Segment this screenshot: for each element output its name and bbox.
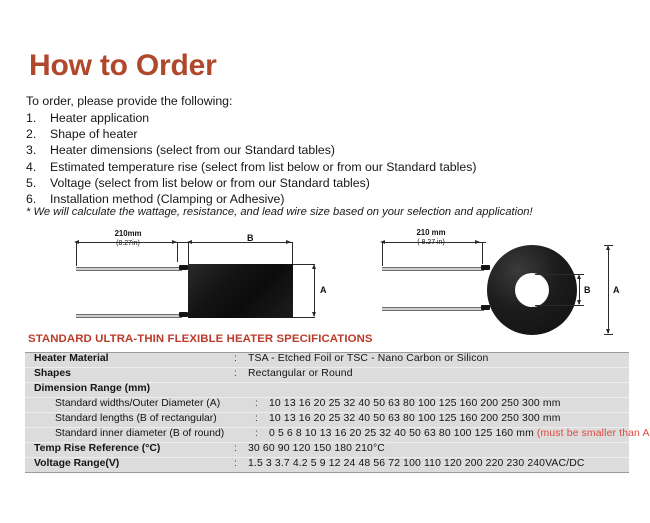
round-heater-inner-hole bbox=[515, 273, 549, 307]
table-row: Shapes : Rectangular or Round bbox=[25, 368, 629, 383]
rect-a-extension-top bbox=[293, 264, 315, 265]
round-lead-arrow-right bbox=[475, 240, 480, 244]
spec-value-warning: (must be smaller than A) bbox=[534, 428, 650, 439]
table-row: Temp Rise Reference (°C) : 30 60 90 120 … bbox=[25, 443, 629, 458]
rect-lead-length-mm: 210mm bbox=[115, 229, 142, 238]
round-lead-crimp-bottom bbox=[481, 305, 490, 310]
rect-b-arrow-right bbox=[286, 240, 291, 244]
table-row: Standard inner diameter (B of round) : 0… bbox=[25, 428, 629, 443]
round-a-tick-top bbox=[604, 245, 613, 246]
list-item-label: Estimated temperature rise (select from … bbox=[50, 159, 626, 175]
round-b-tick-top bbox=[575, 274, 584, 275]
list-item: 2. Shape of heater bbox=[26, 126, 626, 142]
spec-value: Rectangular or Round bbox=[248, 368, 629, 379]
spec-colon: : bbox=[234, 353, 248, 364]
spec-label: Temp Rise Reference (°C) bbox=[25, 443, 234, 454]
round-lead-dim-line bbox=[382, 242, 486, 243]
round-b-extension-top bbox=[535, 274, 580, 275]
list-item: 6. Installation method (Clamping or Adhe… bbox=[26, 191, 626, 207]
rect-lead-length-label: 210mm (8.27in) bbox=[88, 230, 168, 248]
list-item-number: 1. bbox=[26, 110, 50, 126]
spec-value: TSA - Etched Foil or TSC - Nano Carbon o… bbox=[248, 353, 629, 364]
round-lead-wire-top bbox=[382, 267, 484, 271]
rect-lead-wire-top bbox=[76, 267, 182, 271]
spec-value: 1.5 3 3.7 4.2 5 9 12 24 48 56 72 100 110… bbox=[248, 458, 629, 469]
intro-text: To order, please provide the following: bbox=[26, 94, 232, 108]
list-item-number: 2. bbox=[26, 126, 50, 142]
spec-label: Shapes bbox=[25, 368, 234, 379]
spec-table: Heater Material : TSA - Etched Foil or T… bbox=[25, 352, 629, 473]
list-item: 4. Estimated temperature rise (select fr… bbox=[26, 159, 626, 175]
round-lead-wire-bottom bbox=[382, 307, 484, 311]
table-row: Standard widths/Outer Diameter (A) : 10 … bbox=[25, 398, 629, 413]
list-item-label: Heater dimensions (select from our Stand… bbox=[50, 142, 626, 158]
rectangular-heater-diagram: 210mm (8.27in) B bbox=[62, 228, 342, 333]
rect-lead-length-in: (8.27in) bbox=[116, 240, 140, 247]
table-row: Dimension Range (mm) bbox=[25, 383, 629, 398]
rect-heater-body bbox=[188, 264, 293, 318]
calculation-note: * We will calculate the wattage, resista… bbox=[26, 206, 533, 218]
spec-label: Standard widths/Outer Diameter (A) bbox=[25, 398, 255, 409]
rect-lead-crimp-top bbox=[179, 265, 188, 270]
spec-colon: : bbox=[255, 428, 269, 439]
spec-section-heading: STANDARD ULTRA-THIN FLEXIBLE HEATER SPEC… bbox=[28, 333, 373, 345]
spec-value: 10 13 16 20 25 32 40 50 63 80 100 125 16… bbox=[269, 413, 629, 424]
list-item-number: 6. bbox=[26, 191, 50, 207]
list-item-label: Heater application bbox=[50, 110, 626, 126]
rect-b-dim-line bbox=[188, 242, 293, 243]
list-item: 1. Heater application bbox=[26, 110, 626, 126]
round-a-dim-line bbox=[608, 247, 609, 333]
table-row: Voltage Range(V) : 1.5 3 3.7 4.2 5 9 12 … bbox=[25, 458, 629, 472]
order-steps-list: 1. Heater application 2. Shape of heater… bbox=[26, 110, 626, 207]
rect-height-label-a: A bbox=[320, 285, 327, 295]
round-a-tick-bottom bbox=[604, 334, 613, 335]
list-item-number: 5. bbox=[26, 175, 50, 191]
page-title: How to Order bbox=[29, 51, 217, 81]
rect-a-dim-line bbox=[314, 266, 315, 316]
list-item: 5. Voltage (select from list below or fr… bbox=[26, 175, 626, 191]
list-item-label: Installation method (Clamping or Adhesiv… bbox=[50, 191, 626, 207]
rect-lead-crimp-bottom bbox=[179, 312, 188, 317]
spec-label: Standard inner diameter (B of round) bbox=[25, 428, 255, 439]
round-heater-diagram: 210 mm ( 8.27 in) B bbox=[370, 228, 640, 333]
product-diagrams: 210mm (8.27in) B bbox=[0, 228, 650, 333]
round-lead-length-label: 210 mm ( 8.27 in) bbox=[388, 229, 474, 247]
spec-colon: : bbox=[234, 443, 248, 454]
spec-value: 0 5 6 8 10 13 16 20 25 32 40 50 63 80 10… bbox=[269, 428, 650, 439]
round-lead-crimp-top bbox=[481, 265, 490, 270]
spec-value-text: 0 5 6 8 10 13 16 20 25 32 40 50 63 80 10… bbox=[269, 428, 534, 439]
spec-label: Heater Material bbox=[25, 353, 234, 364]
spec-value: 30 60 90 120 150 180 210°C bbox=[248, 443, 629, 454]
list-item-number: 3. bbox=[26, 142, 50, 158]
spec-label: Dimension Range (mm) bbox=[25, 383, 234, 394]
list-item: 3. Heater dimensions (select from our St… bbox=[26, 142, 626, 158]
round-b-extension-bottom bbox=[535, 305, 580, 306]
table-row: Heater Material : TSA - Etched Foil or T… bbox=[25, 353, 629, 368]
spec-colon: : bbox=[255, 413, 269, 424]
spec-colon: : bbox=[255, 398, 269, 409]
round-lead-extension-right bbox=[482, 242, 483, 264]
spec-colon: : bbox=[234, 368, 248, 379]
spec-colon: : bbox=[234, 458, 248, 469]
rect-lead-wire-bottom bbox=[76, 314, 182, 318]
list-item-label: Voltage (select from list below or from … bbox=[50, 175, 626, 191]
round-b-tick-bottom bbox=[575, 305, 584, 306]
table-row: Standard lengths (B of rectangular) : 10… bbox=[25, 413, 629, 428]
spec-label: Voltage Range(V) bbox=[25, 458, 234, 469]
round-lead-length-mm: 210 mm bbox=[416, 228, 445, 237]
list-item-number: 4. bbox=[26, 159, 50, 175]
rect-a-extension-bottom bbox=[293, 317, 315, 318]
round-lead-extension-left bbox=[382, 242, 383, 266]
rect-lead-extension-left bbox=[76, 242, 77, 266]
page-root: How to Order To order, please provide th… bbox=[0, 0, 650, 523]
round-outer-label-a: A bbox=[613, 285, 620, 295]
spec-value: 10 13 16 20 25 32 40 50 63 80 100 125 16… bbox=[269, 398, 629, 409]
spec-label: Standard lengths (B of rectangular) bbox=[25, 413, 255, 424]
round-inner-label-b: B bbox=[584, 285, 591, 295]
rect-lead-extension-right bbox=[177, 242, 178, 262]
list-item-label: Shape of heater bbox=[50, 126, 626, 142]
